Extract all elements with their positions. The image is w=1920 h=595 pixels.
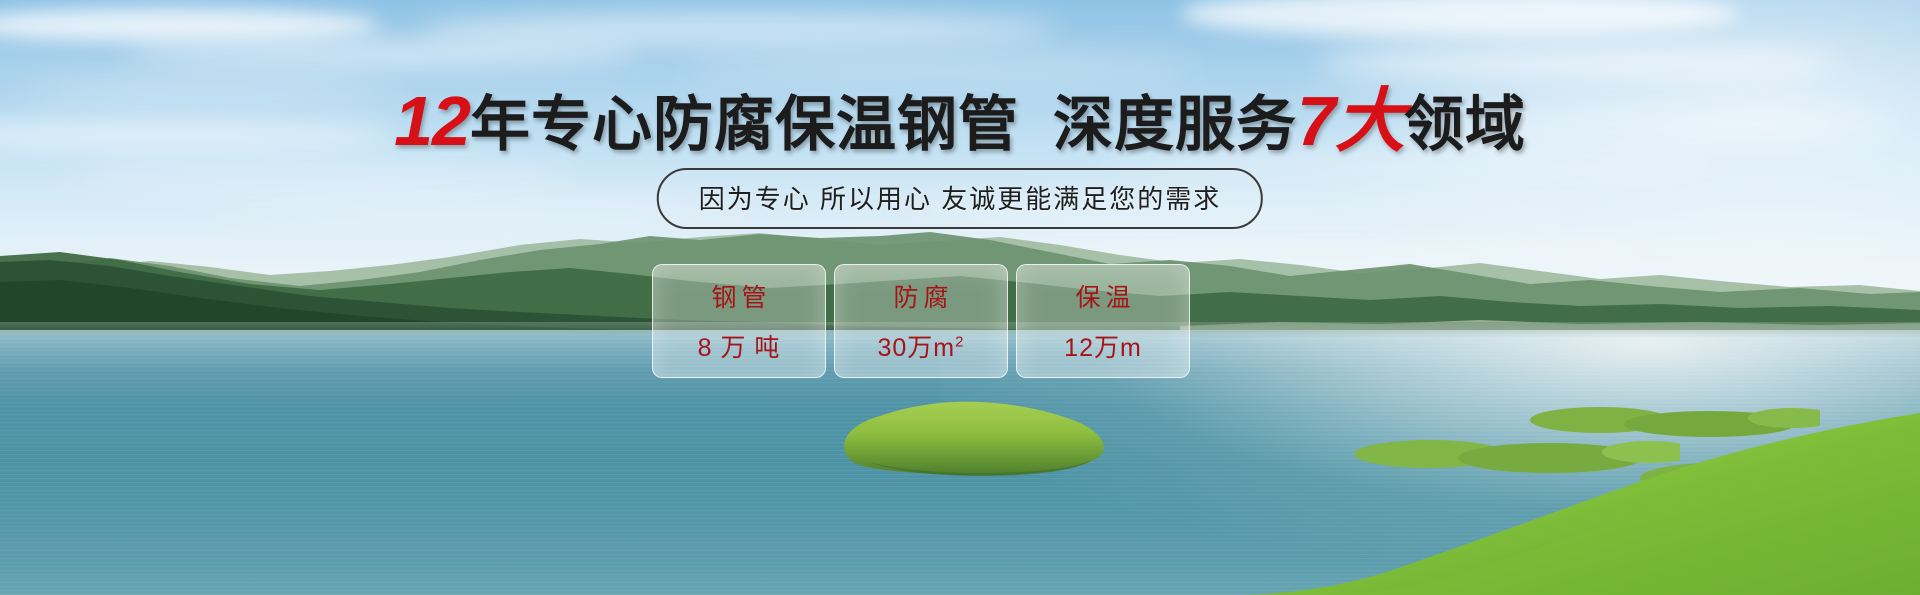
cloud-wisp: [60, 165, 580, 189]
cloud-wisp: [1320, 46, 1840, 80]
headline-segment-one: 年专心防腐保温钢管: [470, 91, 1019, 158]
stat-card-anticorrosion[interactable]: 防腐 30万m2: [834, 264, 1008, 378]
headline-segment-two: 深度服务: [1053, 91, 1297, 158]
stat-card-value: 30万m2: [878, 328, 965, 364]
grass-bank: [1220, 395, 1920, 595]
headline-years-number: 12: [394, 82, 470, 160]
subtitle-pill: 因为专心 所以用心 友诚更能满足您的需求: [657, 168, 1263, 229]
stat-card-value: 12万m: [1064, 328, 1142, 364]
stat-card-title: 钢管: [706, 278, 771, 314]
stat-card-value-base: 12万m: [1064, 334, 1142, 362]
stat-card-value-base: 8 万 吨: [698, 334, 781, 362]
cloud-wisp: [420, 14, 1060, 44]
stat-card-steel-pipe[interactable]: 钢管 8 万 吨: [652, 264, 826, 378]
stat-card-title: 保温: [1070, 278, 1135, 314]
cloud-wisp: [680, 56, 1200, 78]
stat-card-group: 钢管 8 万 吨 防腐 30万m2 保温 12万m: [652, 264, 1190, 378]
promo-banner: 12年专心防腐保温钢管深度服务7大领域 因为专心 所以用心 友诚更能满足您的需求…: [0, 0, 1920, 595]
page-title: 12年专心防腐保温钢管深度服务7大领域: [0, 86, 1920, 156]
headline-fields-unit: 大: [1335, 82, 1404, 160]
stat-card-value-superscript: 2: [955, 334, 964, 351]
stat-card-value: 8 万 吨: [698, 328, 781, 364]
stat-card-insulation[interactable]: 保温 12万m: [1016, 264, 1190, 378]
headline-fields-number: 7: [1297, 82, 1335, 160]
stat-card-title: 防腐: [888, 278, 953, 314]
grass-island: [828, 398, 1118, 476]
stat-card-value-base: 30万m: [878, 334, 956, 362]
cloud-wisp: [120, 40, 640, 66]
headline-segment-three: 领域: [1404, 91, 1526, 158]
